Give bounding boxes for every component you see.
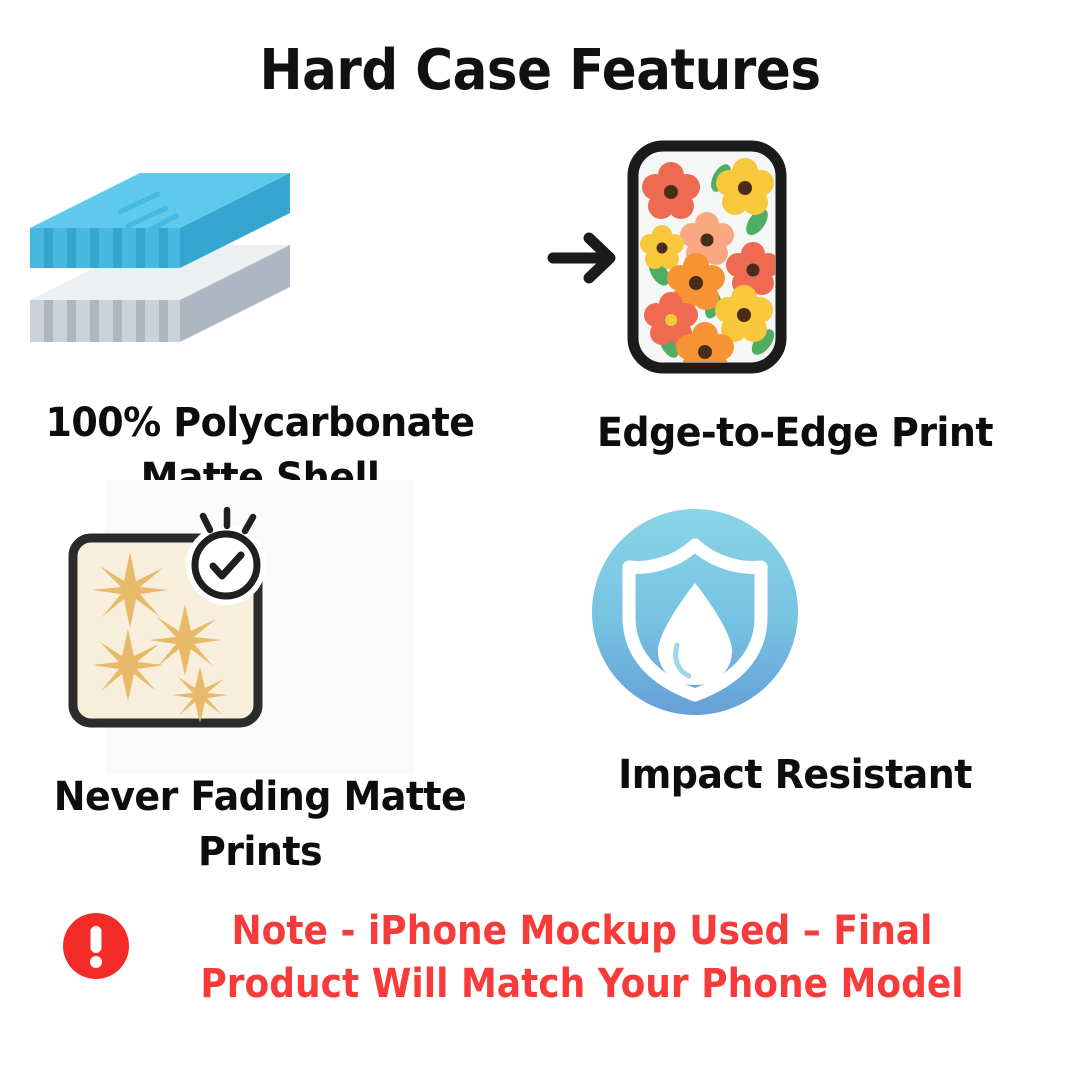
feature-label-edge-to-edge: Edge-to-Edge Print — [558, 406, 1033, 461]
floral-phone-case-icon — [545, 130, 1045, 380]
feature-label-never-fading: Never Fading Matte Prints — [23, 770, 498, 880]
feature-card-polycarbonate: 100% Polycarbonate Matte Shell — [10, 150, 510, 506]
feature-label-impact-resistant: Impact Resistant — [558, 748, 1033, 803]
feature-card-impact-resistant: Impact Resistant — [545, 505, 1045, 803]
shield-droplet-icon — [545, 505, 1045, 720]
feature-card-edge-to-edge: Edge-to-Edge Print — [545, 130, 1045, 461]
note-text: Note - iPhone Mockup Used – Final Produc… — [191, 905, 974, 1011]
sparkle-square-check-icon — [10, 480, 510, 750]
exclamation-circle-icon — [63, 913, 129, 979]
arrow-right-icon — [553, 238, 610, 278]
feature-card-never-fading: Never Fading Matte Prints — [10, 480, 510, 880]
layered-slabs-icon — [10, 150, 510, 370]
page-title: Hard Case Features — [43, 38, 1037, 103]
note-banner: Note - iPhone Mockup Used – Final Produc… — [0, 905, 1080, 1011]
